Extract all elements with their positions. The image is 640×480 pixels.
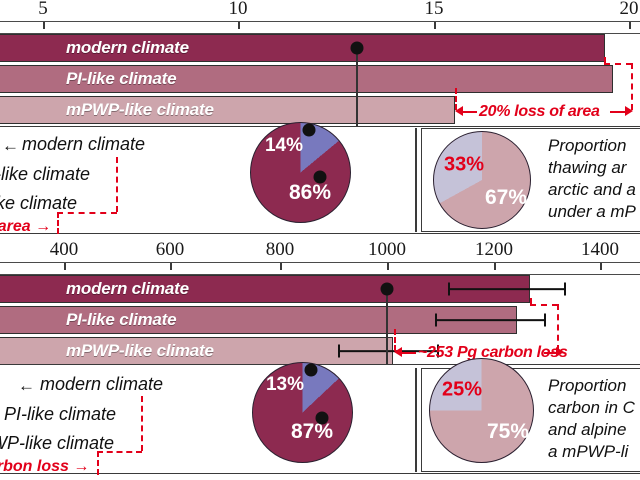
area-ticks <box>0 22 640 32</box>
area-desc-divider <box>415 128 417 232</box>
carbon-errcap-low <box>435 314 437 327</box>
area-callout-arrow-right-head <box>625 106 633 116</box>
carbon-legend-item-pi: PI-like climate <box>4 404 116 425</box>
carbon-legend-arrow-icon: ← <box>18 376 35 396</box>
area-bar-row-pi: PI-like climate <box>0 65 640 93</box>
carbon-tick <box>387 263 389 270</box>
carbon-errbar-modern <box>448 288 565 290</box>
carbon-errcap-low <box>338 345 340 358</box>
carbon-pie-modern-slice-13: 13% <box>266 374 304 396</box>
area-callout-arrow-left-line <box>461 111 477 113</box>
area-desc-text-group: Proportion thawing ar arctic and a under… <box>548 136 640 228</box>
carbon-bar-label: PI-like climate <box>66 310 176 330</box>
area-desc-line: thawing ar <box>548 158 626 177</box>
area-pie-modern-slice-86: 86% <box>289 181 331 205</box>
carbon-pie-mpwp-slice-75: 75% <box>487 420 529 444</box>
carbon-tick <box>170 263 172 270</box>
area-legend-dash-2 <box>57 212 117 214</box>
area-axis-labels: 5 10 15 20 <box>0 0 640 22</box>
carbon-errcap-high <box>564 283 566 296</box>
carbon-desc-line: a mPWP-li <box>548 442 628 461</box>
area-legend-dash-1 <box>116 157 118 212</box>
area-desc-line: Proportion <box>548 136 626 155</box>
carbon-tick-label: 1000 <box>368 239 406 261</box>
area-callout-label: 20% loss of area <box>479 103 600 121</box>
figure-canvas: 5 10 15 20 modern climate PI-like climat… <box>0 0 640 480</box>
area-bar-row-modern: modern climate <box>0 34 640 62</box>
carbon-errcap-high <box>544 314 546 327</box>
carbon-bar-label: modern climate <box>66 279 189 299</box>
carbon-callout-arrow-left-head <box>394 347 402 357</box>
carbon-dash-2 <box>530 304 558 306</box>
area-marker-dot <box>351 42 364 55</box>
area-pie-modern-dot-side <box>314 171 327 184</box>
carbon-bar-label: mPWP-like climate <box>66 341 214 361</box>
area-legend-arrow-icon: ← <box>2 136 19 156</box>
carbon-desc-line: and alpine <box>548 420 626 439</box>
area-tick-label: 20 <box>620 0 639 20</box>
carbon-errbar-pi <box>435 319 545 321</box>
carbon-tick-label: 1400 <box>581 239 619 261</box>
carbon-tick <box>600 263 602 270</box>
carbon-legend-red-note: arbon loss → <box>0 458 89 476</box>
area-pie-modern-slice-14: 14% <box>265 135 303 157</box>
area-bar-label: modern climate <box>66 38 189 58</box>
area-legend-red-note: f area → <box>0 218 51 236</box>
area-pie-mpwp[interactable] <box>433 131 531 229</box>
carbon-desc-text-group: Proportion carbon in C and alpine a mPWP… <box>548 376 640 468</box>
area-tick <box>434 22 436 29</box>
carbon-desc-divider <box>415 368 417 472</box>
carbon-tick <box>64 263 66 270</box>
carbon-bar-row-pi: PI-like climate <box>0 306 640 334</box>
carbon-legend-dash-3 <box>97 451 99 475</box>
area-tick <box>43 22 45 29</box>
area-callout-arrow-right-line <box>610 111 626 113</box>
carbon-tick <box>494 263 496 270</box>
area-legend-dash-3 <box>57 212 59 234</box>
carbon-bar-row-modern: modern climate <box>0 275 640 303</box>
area-pie-mpwp-slice-33: 33% <box>444 154 484 177</box>
carbon-tick-label: 400 <box>50 239 79 261</box>
area-legend-item-modern: modern climate <box>22 134 145 155</box>
carbon-pie-modern-slice-87: 87% <box>291 420 333 444</box>
area-legend-item-pi: I-like climate <box>0 164 90 185</box>
area-tick <box>629 22 631 29</box>
area-tick-label: 5 <box>38 0 48 20</box>
carbon-legend-dash-2 <box>97 451 142 453</box>
carbon-errcap-low <box>448 283 450 296</box>
area-desc-line: under a mP <box>548 202 636 221</box>
area-legend-item-mpwp: like climate <box>0 193 77 214</box>
carbon-pie-mpwp[interactable] <box>429 358 534 463</box>
carbon-tick-label: 1200 <box>475 239 513 261</box>
carbon-callout-arrow-left-line <box>400 352 416 354</box>
carbon-marker-dot <box>381 283 394 296</box>
area-pie-modern-dot-top <box>303 124 316 137</box>
carbon-pie-modern-dot-top <box>305 364 318 377</box>
carbon-ticks <box>0 263 640 273</box>
area-bar-label: PI-like climate <box>66 69 176 89</box>
carbon-tick <box>280 263 282 270</box>
carbon-tick-label: 600 <box>156 239 185 261</box>
carbon-tick-label: 800 <box>266 239 295 261</box>
area-bar-label: mPWP-like climate <box>66 100 214 120</box>
carbon-pie-modern-dot-side <box>316 412 329 425</box>
area-desc-line: arctic and a <box>548 180 636 199</box>
area-callout-arrow-left-head <box>455 106 463 116</box>
carbon-pie-mpwp-slice-25: 25% <box>442 379 482 402</box>
carbon-desc-line: Proportion <box>548 376 626 395</box>
carbon-axis-labels: 400 600 800 1000 1200 1400 <box>0 241 640 263</box>
carbon-legend-dash-1 <box>141 396 143 451</box>
area-dash-2 <box>604 63 632 65</box>
carbon-desc-line: carbon in C <box>548 398 635 417</box>
area-tick-label: 15 <box>425 0 444 20</box>
area-tick-label: 10 <box>229 0 248 20</box>
area-pie-mpwp-slice-67: 67% <box>485 186 527 210</box>
area-callout-group: 20% loss of area <box>455 103 635 121</box>
carbon-legend-item-modern: modern climate <box>40 374 163 395</box>
carbon-callout-arrow-right-head <box>556 347 564 357</box>
area-tick <box>238 22 240 29</box>
